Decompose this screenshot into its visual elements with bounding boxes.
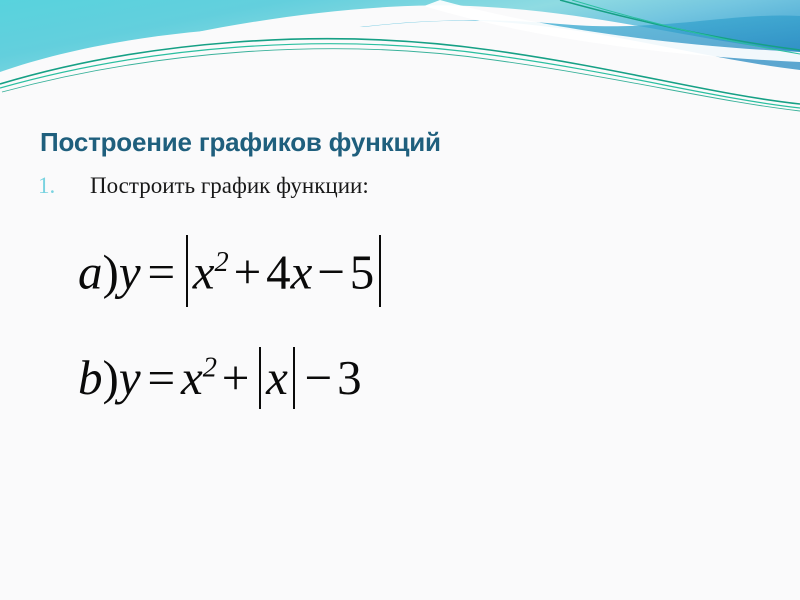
slide-title: Построение графиков функций xyxy=(0,115,800,158)
formula-b-var-x: x xyxy=(266,350,288,405)
formula-b-plus: + xyxy=(217,350,254,405)
formula-b-exponent: 2 xyxy=(203,353,217,384)
formula-a-exponent: 2 xyxy=(214,247,228,278)
formula-a: a)y=x2+4x−5 xyxy=(0,241,800,313)
formula-a-lhs: y xyxy=(119,244,141,299)
bullet-list: 1. Построить график функции: xyxy=(0,158,800,201)
list-item-marker: 1. xyxy=(38,173,90,199)
formula-b-label: b xyxy=(78,350,103,405)
formula-b-minus: − xyxy=(300,350,337,405)
formula-b-constant: 3 xyxy=(337,350,362,405)
formula-block: a)y=x2+4x−5 b)y=x2+x−3 xyxy=(0,201,800,414)
formula-a-plus: + xyxy=(229,244,266,299)
formula-a-abs-open-bar xyxy=(186,235,188,307)
list-item-label: Построить график функции: xyxy=(90,172,369,201)
formula-a-var-x: x xyxy=(291,244,313,299)
formula-a-paren: ) xyxy=(103,244,119,299)
formula-b-abs-close-bar xyxy=(293,347,295,409)
formula-a-minus: − xyxy=(312,244,349,299)
list-item: 1. Построить график функции: xyxy=(0,172,800,201)
slide-content: Построение графиков функций 1. Построить… xyxy=(0,115,800,414)
formula-a-term-x: x xyxy=(193,244,215,299)
wave-banner-graphic xyxy=(0,0,800,115)
formula-a-equals: = xyxy=(141,244,181,299)
formula-a-constant: 5 xyxy=(350,244,375,299)
formula-b-term-x: x xyxy=(181,350,203,405)
formula-b: b)y=x2+x−3 xyxy=(0,313,800,414)
formula-b-equals: = xyxy=(141,350,181,405)
formula-b-paren: ) xyxy=(103,350,119,405)
formula-a-abs-close-bar xyxy=(379,235,381,307)
formula-a-coefficient: 4 xyxy=(266,244,291,299)
formula-a-label: a xyxy=(78,244,103,299)
formula-b-lhs: y xyxy=(119,350,141,405)
header-wave-banner xyxy=(0,0,800,115)
formula-b-abs-open-bar xyxy=(259,347,261,409)
